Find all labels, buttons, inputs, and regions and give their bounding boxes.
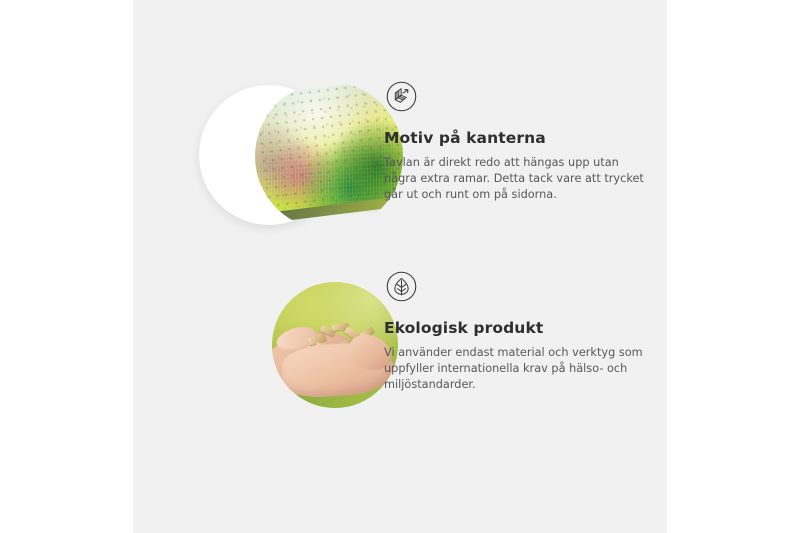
feature-body: Tavlan är direkt redo att hängas upp uta… bbox=[384, 155, 652, 203]
feature-row-eco-product: Ekologisk produkt Vi använder endast mat… bbox=[133, 268, 667, 448]
canvas-wrapped-edge-icon bbox=[383, 78, 420, 115]
content-panel: Motiv på kanterna Tavlan är direkt redo … bbox=[133, 0, 667, 533]
product-feature-banner: Motiv på kanterna Tavlan är direkt redo … bbox=[0, 0, 800, 533]
feature-text-eco-product: Ekologisk produkt Vi använder endast mat… bbox=[383, 268, 661, 393]
leaf-icon bbox=[383, 268, 420, 305]
wood-chips-in-hands-photo bbox=[193, 268, 405, 448]
canvas-print-photo bbox=[193, 78, 405, 258]
canvas-photo-clip bbox=[255, 82, 403, 230]
feature-body: Vi använder endast material och verktyg … bbox=[384, 345, 652, 393]
eco-photo-disc bbox=[272, 282, 398, 408]
canvas-speckle-overlay bbox=[255, 82, 403, 215]
feature-text-canvas-edges: Motiv på kanterna Tavlan är direkt redo … bbox=[383, 78, 661, 203]
feature-title: Motiv på kanterna bbox=[384, 129, 661, 148]
feature-title: Ekologisk produkt bbox=[384, 319, 661, 338]
canvas-print-block bbox=[255, 82, 403, 230]
canvas-front-face bbox=[255, 82, 403, 215]
feature-row-canvas-edges: Motiv på kanterna Tavlan är direkt redo … bbox=[133, 78, 667, 258]
